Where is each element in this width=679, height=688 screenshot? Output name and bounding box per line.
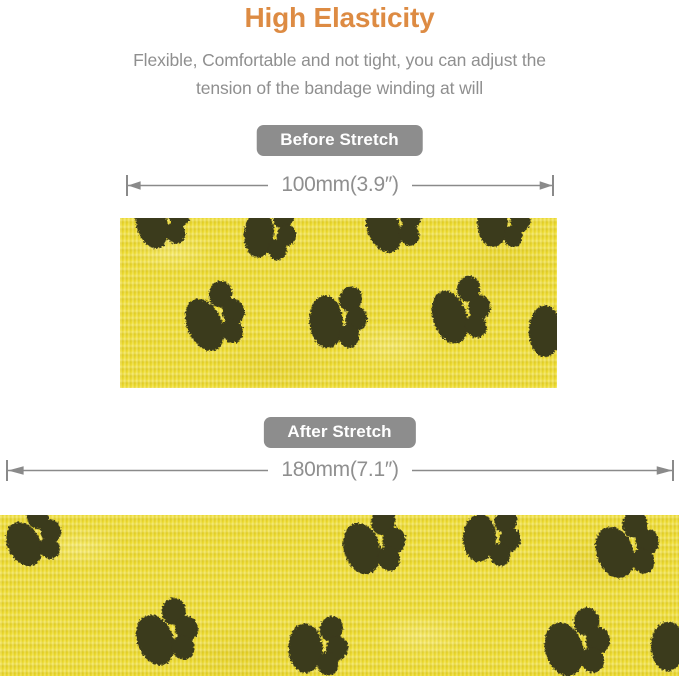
subtitle-line-1: Flexible, Comfortable and not tight, you… <box>0 46 679 74</box>
arrow-right-icon <box>412 175 552 196</box>
dimension-row-before: 100mm(3.9″) <box>126 168 554 202</box>
page-subtitle: Flexible, Comfortable and not tight, you… <box>0 46 679 102</box>
dimension-row-after: 180mm(7.1″) <box>6 453 674 487</box>
subtitle-line-2: tension of the bandage winding at will <box>0 74 679 102</box>
arrow-left-icon <box>128 175 268 196</box>
badge-before-stretch: Before Stretch <box>256 125 423 156</box>
arrow-right-icon <box>412 460 672 481</box>
paw-print-pattern <box>120 218 557 388</box>
dimension-endcap-right-icon <box>552 175 554 196</box>
dimension-endcap-right-icon <box>672 460 674 481</box>
badge-after-stretch: After Stretch <box>263 417 415 448</box>
dimension-label-after: 180mm(7.1″) <box>268 458 411 482</box>
bandage-image-after-stretch <box>0 515 679 676</box>
paw-print-pattern <box>0 515 679 676</box>
arrow-left-icon <box>8 460 268 481</box>
page-title: High Elasticity <box>0 2 679 34</box>
bandage-image-before-stretch <box>120 218 557 388</box>
dimension-label-before: 100mm(3.9″) <box>268 173 411 197</box>
